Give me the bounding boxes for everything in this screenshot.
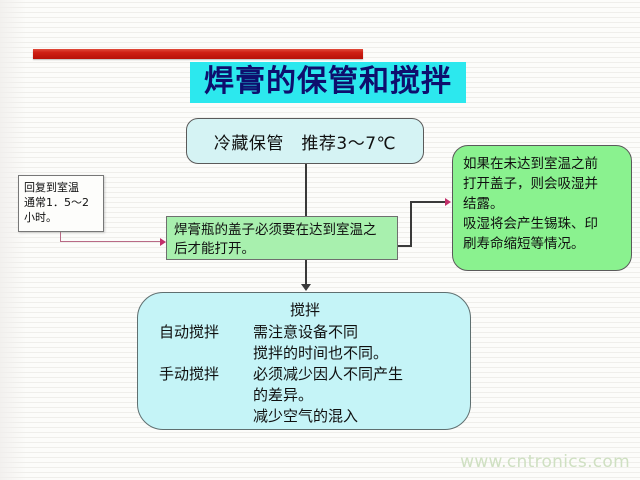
room-temperature-note-text: 回复到室温 通常1．5～2小时。 — [19, 176, 103, 225]
mixing-instructions-box: 搅拌 自动搅拌 需注意设备不同 搅拌的时间也不同。 手动搅拌 必须减少因人不同产… — [137, 292, 471, 430]
connector-lid-to-warning-horizontal — [410, 201, 448, 203]
arrowhead-into-warning-box — [445, 198, 451, 206]
mixing-value-air-reduction: 减少空气的混入 — [253, 406, 358, 427]
connector-lid-to-mixing — [305, 260, 307, 286]
moisture-warning-text: 如果在未达到室温之前 打开盖子，则会吸湿并 结露。 吸湿将会产生锡珠、印 刷寿命… — [453, 146, 631, 254]
lid-opening-rule-text: 焊膏瓶的盖子必须要在达到室温之 后才能打开。 — [167, 217, 397, 259]
lid-opening-rule-box: 焊膏瓶的盖子必须要在达到室温之 后才能打开。 — [166, 216, 398, 260]
red-accent-bar — [33, 49, 363, 59]
connector-room-note-right — [60, 241, 164, 242]
room-temperature-note-box: 回复到室温 通常1．5～2小时。 — [18, 175, 104, 232]
mixing-label-automatic: 自动搅拌 — [159, 322, 219, 343]
mixing-value-manual: 必须减少因人不同产生 的差异。 — [253, 364, 403, 406]
cold-storage-box: 冷藏保管 推荐3～7℃ — [186, 118, 424, 164]
arrowhead-into-mixing-box — [301, 284, 311, 291]
slide-canvas: 焊膏的保管和搅拌 冷藏保管 推荐3～7℃ 回复到室温 通常1．5～2小时。 焊膏… — [0, 0, 640, 480]
site-watermark: www.cntronics.com — [460, 452, 630, 472]
cold-storage-text: 冷藏保管 推荐3～7℃ — [187, 119, 423, 154]
connector-cold-to-lid — [305, 164, 307, 216]
left-edge-shading — [0, 0, 26, 480]
mixing-heading: 搅拌 — [138, 299, 472, 320]
mixing-value-automatic: 需注意设备不同 搅拌的时间也不同。 — [253, 322, 388, 364]
moisture-warning-box: 如果在未达到室温之前 打开盖子，则会吸湿并 结露。 吸湿将会产生锡珠、印 刷寿命… — [452, 145, 632, 271]
connector-lid-to-warning-vertical — [410, 202, 412, 246]
page-title: 焊膏的保管和搅拌 — [190, 60, 466, 104]
mixing-label-manual: 手动搅拌 — [159, 364, 219, 385]
